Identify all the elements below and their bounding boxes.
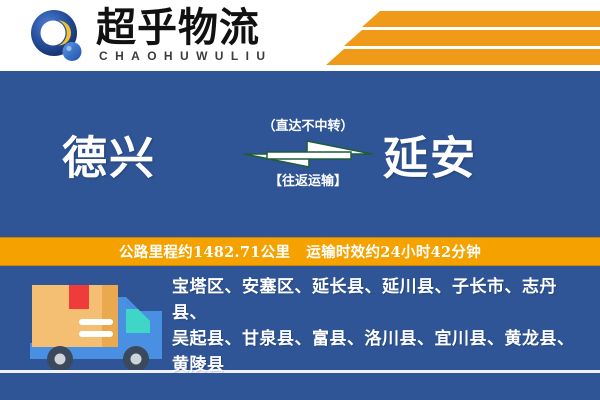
route-note-direct: （直达不中转） [243, 118, 373, 135]
origin-city-name: 德兴 [62, 122, 156, 187]
duration-label: 运输时效约24小时42分钟 [306, 241, 481, 262]
distance-label: 公路里程约1482.71公里 [119, 241, 290, 262]
covered-counties-line: 吴起县、甘泉县、富县、洛川县、宜川县、黄龙县、 [172, 326, 586, 352]
route-section: 德兴 （直达不中转） 【往返运输】 延安 [0, 71, 600, 237]
coverage-section: 宝塔区、安塞区、延长县、延川县、子长市、志丹县、 吴起县、甘泉县、富县、洛川县、… [0, 266, 600, 400]
route-info-bar: 公路里程约1482.71公里 运输时效约24小时42分钟 [0, 237, 600, 266]
banner-header: 超乎物流 CHAOHUWULIU [0, 0, 600, 71]
destination-city-name: 延安 [383, 122, 477, 187]
covered-counties-list: 宝塔区、安塞区、延长县、延川县、子长市、志丹县、 吴起县、甘泉县、富县、洛川县、… [172, 274, 586, 378]
brand-name-cn: 超乎物流 [96, 6, 260, 50]
brand-name-pinyin: CHAOHUWULIU [99, 49, 272, 63]
route-middle-group: （直达不中转） 【往返运输】 [243, 118, 373, 190]
route-note-roundtrip: 【往返运输】 [243, 173, 373, 190]
header-stripes-decoration [300, 0, 600, 71]
delivery-truck-icon [22, 271, 170, 383]
covered-counties-line: 宝塔区、安塞区、延长县、延川县、子长市、志丹县、 [172, 274, 586, 326]
covered-counties-line: 黄陵县 [172, 352, 586, 378]
company-logo-icon [28, 8, 86, 66]
double-headed-arrow-icon [243, 138, 373, 170]
logistics-route-banner: 超乎物流 CHAOHUWULIU 德兴 （直达不中转） [0, 0, 600, 400]
